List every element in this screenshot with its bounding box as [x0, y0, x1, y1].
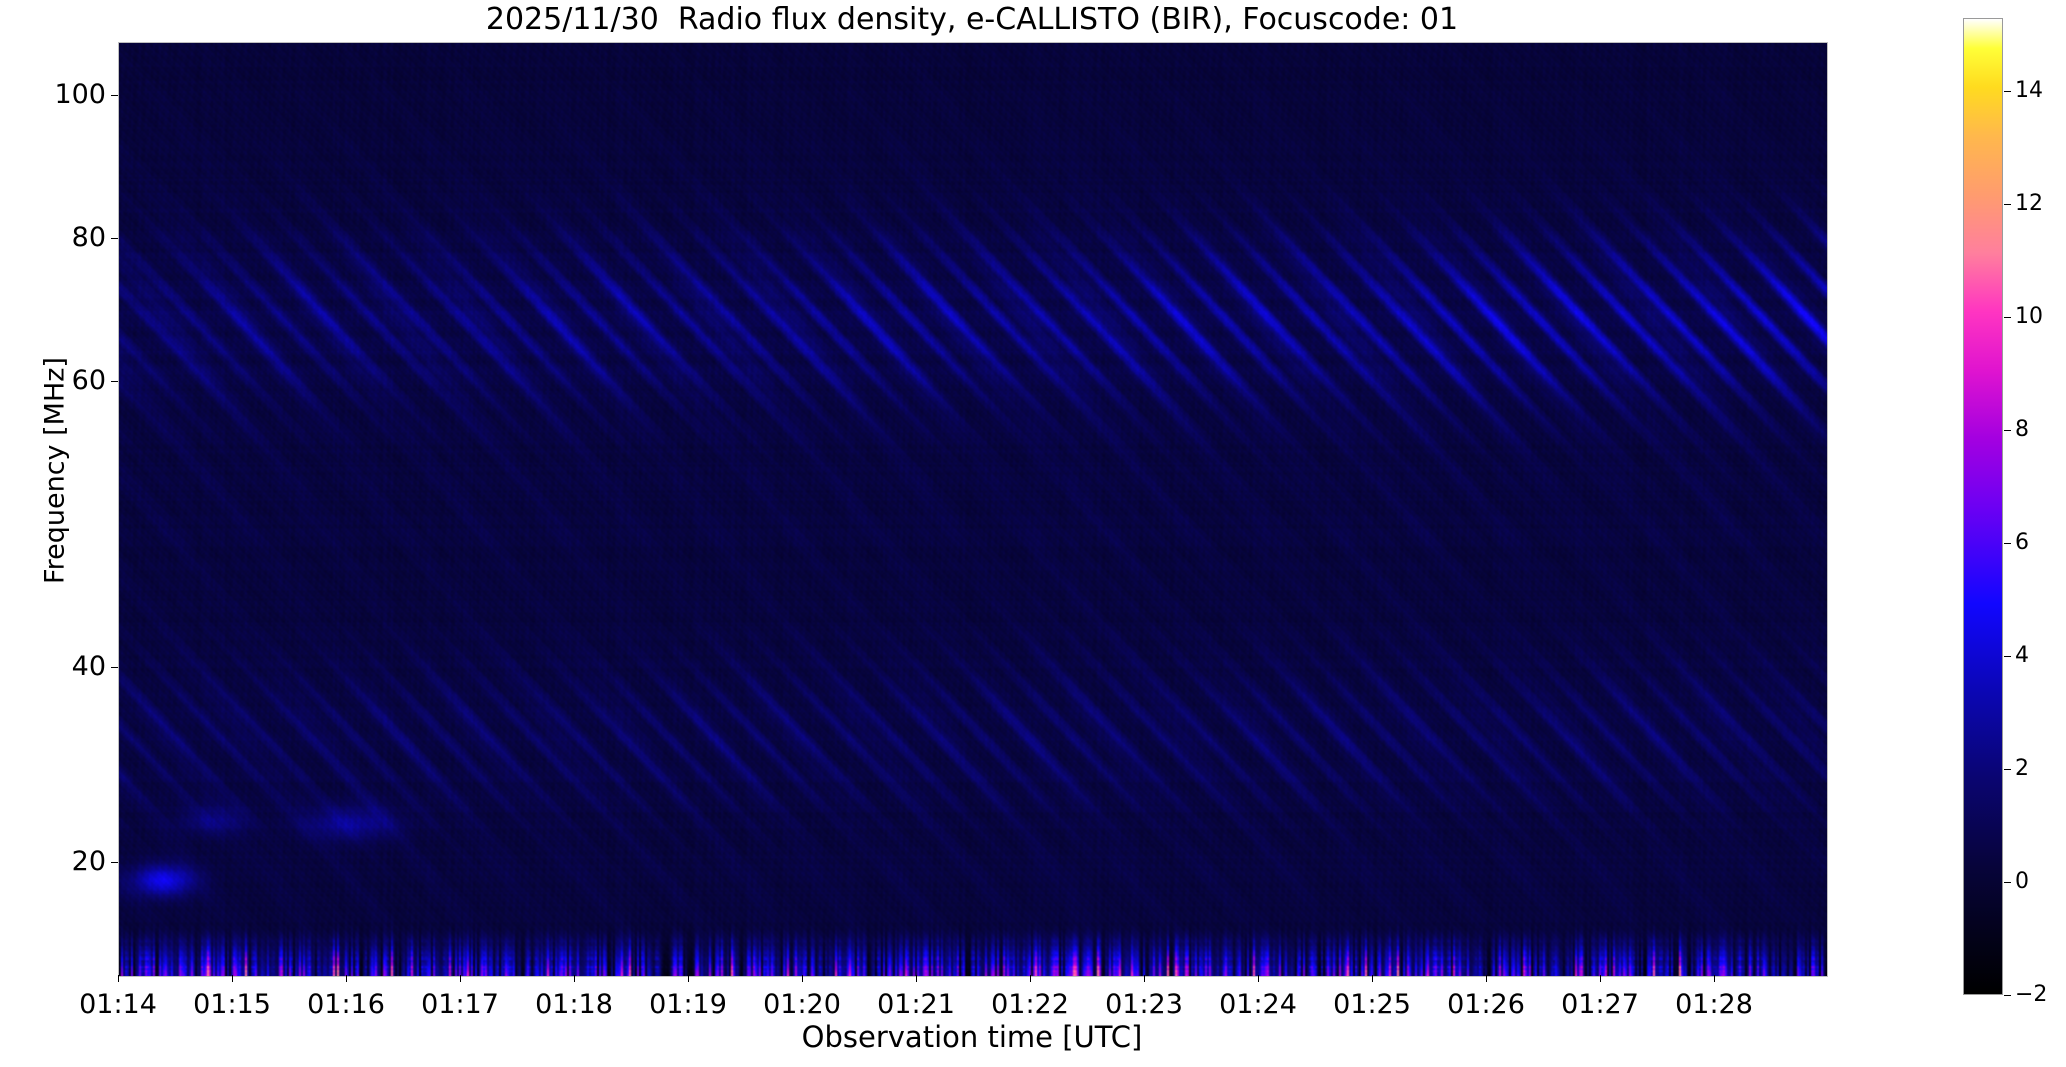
x-tick-mark [118, 975, 119, 982]
x-tick-mark [802, 975, 803, 982]
y-tick-label: 60 [0, 367, 106, 394]
colorbar-tick-mark [2004, 656, 2011, 657]
y-tick-mark [111, 95, 118, 96]
x-tick-mark [574, 975, 575, 982]
colorbar-tick-mark [2004, 769, 2011, 770]
colorbar-tick-label: 0 [2015, 871, 2066, 893]
x-tick-mark [1258, 975, 1259, 982]
y-tick-label: 80 [0, 224, 106, 251]
colorbar-tick-mark [2004, 91, 2011, 92]
x-tick-label: 01:28 [1634, 991, 1794, 1018]
colorbar-tick-label: 10 [2015, 306, 2066, 328]
colorbar-tick-mark [2004, 543, 2011, 544]
x-tick-mark [232, 975, 233, 982]
x-tick-mark [346, 975, 347, 982]
colorbar-tick-label: 6 [2015, 532, 2066, 554]
spectrogram-plot-area[interactable] [118, 42, 1828, 977]
x-tick-mark [1372, 975, 1373, 982]
colorbar[interactable]: −202468101214 [1963, 18, 2003, 995]
y-tick-label: 100 [0, 81, 106, 108]
y-axis: Frequency [MHz] 10080604020 [0, 0, 118, 1067]
x-tick-mark [1144, 975, 1145, 982]
figure-canvas: 2025/11/30 Radio flux density, e-CALLIST… [0, 0, 2066, 1067]
page-title: 2025/11/30 Radio flux density, e-CALLIST… [118, 2, 1826, 38]
colorbar-tick-label: 8 [2015, 419, 2066, 441]
x-tick-mark [916, 975, 917, 982]
y-tick-label: 20 [0, 848, 106, 875]
y-tick-mark [111, 667, 118, 668]
y-tick-mark [111, 381, 118, 382]
x-tick-mark [460, 975, 461, 982]
colorbar-tick-mark [2004, 317, 2011, 318]
y-tick-label: 40 [0, 653, 106, 680]
x-tick-mark [1486, 975, 1487, 982]
y-axis-label: Frequency [MHz] [40, 171, 71, 771]
x-tick-mark [688, 975, 689, 982]
y-tick-mark [111, 862, 118, 863]
colorbar-gradient [1963, 18, 2003, 995]
colorbar-tick-label: 12 [2015, 193, 2066, 215]
colorbar-tick-mark [2004, 882, 2011, 883]
y-tick-mark [111, 238, 118, 239]
spectrogram-image [119, 43, 1827, 976]
x-tick-mark [1030, 975, 1031, 982]
x-tick-mark [1600, 975, 1601, 982]
colorbar-tick-label: 4 [2015, 645, 2066, 667]
colorbar-tick-label: 14 [2015, 80, 2066, 102]
colorbar-tick-mark [2004, 430, 2011, 431]
colorbar-tick-mark [2004, 995, 2011, 996]
colorbar-tick-label: 2 [2015, 758, 2066, 780]
x-axis-label: Observation time [UTC] [118, 1020, 1826, 1054]
x-tick-mark [1714, 975, 1715, 982]
colorbar-tick-mark [2004, 204, 2011, 205]
colorbar-tick-label: −2 [2015, 984, 2066, 1006]
